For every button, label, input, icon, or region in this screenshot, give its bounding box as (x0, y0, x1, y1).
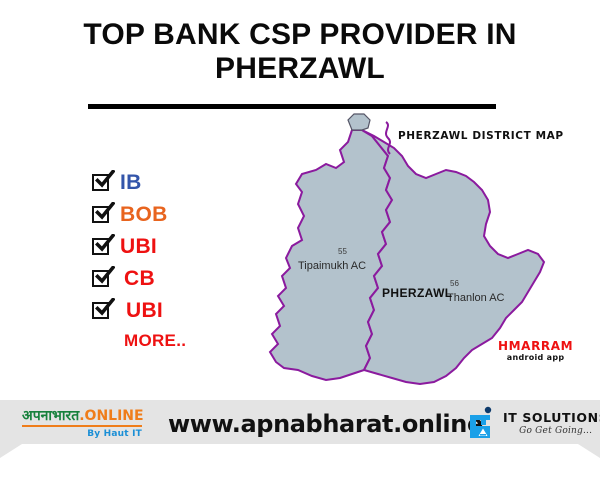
brand-hindi-text: अपनाभारत (22, 408, 79, 424)
bank-label-ib: IB (120, 172, 142, 193)
list-item[interactable]: CB (92, 262, 222, 294)
ac-label-thanlon: Thanlon AC (447, 292, 504, 304)
title-divider (88, 104, 496, 109)
brand-online-text: .ONLINE (79, 408, 143, 424)
checkbox-checked-icon[interactable] (92, 174, 109, 191)
brand-logo-itsolutions[interactable]: IT SOLUTIONS Go Get Going... (468, 406, 600, 440)
bank-label-bob: BOB (120, 204, 168, 225)
brand-byline: By Haut IT (22, 429, 142, 439)
website-url[interactable]: www.apnabharat.online (168, 410, 458, 438)
map-region-north-panhandle (348, 114, 370, 130)
list-item[interactable]: UBI (92, 294, 222, 326)
check-mark-icon (95, 202, 115, 222)
bank-label-cb: CB (124, 268, 155, 289)
bank-label-ubi-2: UBI (126, 300, 163, 321)
poster-canvas: TOP BANK CSP PROVIDER IN PHERZAWL IB BOB (0, 0, 600, 480)
bank-more-link[interactable]: MORE.. (124, 332, 222, 349)
brand-wordmark: अपनाभारत.ONLINE (22, 408, 160, 424)
list-item[interactable]: IB (92, 166, 222, 198)
check-mark-icon (95, 234, 115, 254)
title-block: TOP BANK CSP PROVIDER IN PHERZAWL (30, 18, 570, 86)
map-heading: PHERZAWL DISTRICT MAP (398, 130, 564, 142)
list-item[interactable]: BOB (92, 198, 222, 230)
ac-number-55: 55 (338, 247, 347, 256)
brand-logo-apnabharat[interactable]: अपनाभारत.ONLINE By Haut IT (22, 408, 160, 439)
district-map: PHERZAWL DISTRICT MAP 55 Tipaimukh AC 56… (240, 112, 596, 402)
bank-label-ubi: UBI (120, 236, 157, 257)
checkbox-checked-icon[interactable] (92, 302, 109, 319)
district-label-pherzawl: PHERZAWL (382, 286, 453, 300)
hmarram-app-badge[interactable]: HMARRAM android app (498, 340, 573, 362)
it-solutions-text: IT SOLUTIONS Go Get Going... (503, 410, 600, 436)
it-solutions-tagline: Go Get Going... (503, 426, 600, 436)
ha-monogram-icon (468, 406, 498, 440)
ac-label-tipaimukh: Tipaimukh AC (298, 260, 366, 272)
check-mark-icon (95, 266, 115, 286)
list-item[interactable]: UBI (92, 230, 222, 262)
bank-checklist: IB BOB UBI CB (92, 166, 222, 349)
page-title: TOP BANK CSP PROVIDER IN PHERZAWL (30, 18, 570, 86)
check-mark-icon (95, 298, 115, 318)
hmarram-subtitle: android app (498, 354, 573, 362)
check-mark-icon (95, 170, 115, 190)
hmarram-title: HMARRAM (498, 340, 573, 352)
it-solutions-title: IT SOLUTIONS (503, 410, 600, 425)
checkbox-checked-icon[interactable] (92, 238, 109, 255)
brand-underline (22, 425, 142, 427)
checkbox-checked-icon[interactable] (92, 270, 109, 287)
checkbox-checked-icon[interactable] (92, 206, 109, 223)
